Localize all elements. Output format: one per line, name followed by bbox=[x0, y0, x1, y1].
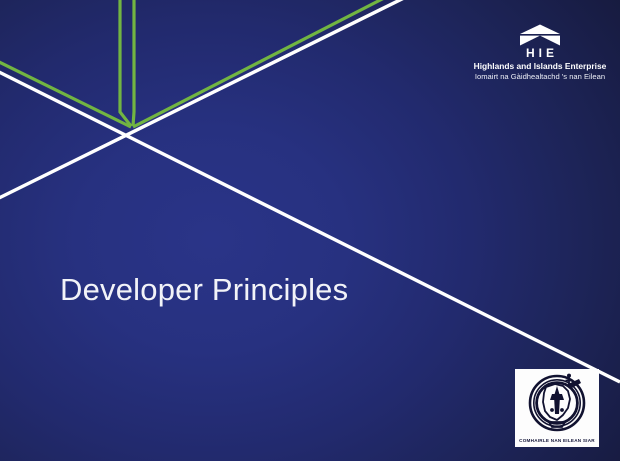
green-line-diagonal-right bbox=[133, 0, 390, 127]
hie-letters: HIE bbox=[473, 47, 607, 59]
crest-caption: COMHAIRLE NAN EILEAN SIAR bbox=[515, 438, 599, 443]
white-line-descending bbox=[0, 70, 620, 382]
green-line-diagonal-left bbox=[0, 60, 131, 127]
green-line-vertical-right bbox=[133, 0, 134, 126]
comhairle-crest-logo: COMHAIRLE NAN EILEAN SIAR bbox=[515, 369, 599, 447]
page-title: Developer Principles bbox=[60, 272, 348, 308]
presentation-slide: Developer Principles HIE Highlands and I… bbox=[0, 0, 620, 461]
hie-logo: HIE Highlands and Islands Enterprise Iom… bbox=[473, 24, 607, 82]
white-line-ascending bbox=[0, 0, 410, 200]
hie-tagline-gaelic: Iomairt na Gàidhealtachd 's nan Eilean bbox=[473, 72, 607, 82]
hie-tagline-english: Highlands and Islands Enterprise bbox=[473, 61, 607, 72]
hie-bowtie-icon bbox=[519, 24, 561, 46]
green-line-vertical-left bbox=[120, 0, 131, 126]
comhairle-crest-icon bbox=[521, 370, 593, 436]
